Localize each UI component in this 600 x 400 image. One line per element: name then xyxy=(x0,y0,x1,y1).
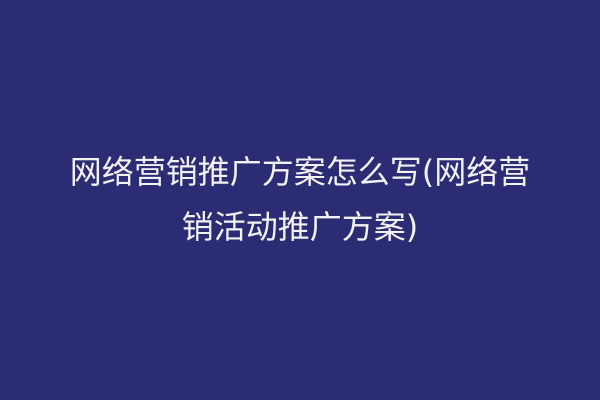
page-title: 网络营销推广方案怎么写(网络营销活动推广方案) xyxy=(55,145,545,255)
title-card: 网络营销推广方案怎么写(网络营销活动推广方案) xyxy=(0,0,600,400)
